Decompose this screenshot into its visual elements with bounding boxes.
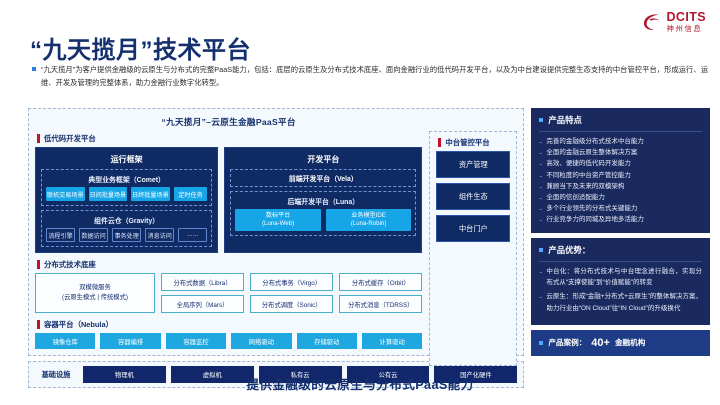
product-case-label: 产品案例： [548, 337, 586, 348]
product-features-title: 产品特点 [548, 114, 582, 126]
product-advantages-panel: 产品优势： 中台化：将分布式技术与中台理念进行融合，实现分布式从“支撑使能”到“… [531, 238, 710, 324]
feature-item: 多个行业领先的分布式关键能力 [539, 203, 702, 214]
dual-mode-line2: (云原生模式 | 传统模式) [62, 293, 128, 303]
backend-dev-item-line1: 数标平台 [266, 212, 290, 219]
product-case-number: 40+ [591, 337, 610, 349]
container-item[interactable]: 容器监控 [166, 333, 226, 349]
section-header-lowcode: 低代码开发平台 [37, 133, 422, 144]
comet-item[interactable]: 日终批量场景 [131, 187, 170, 201]
mgmt-platform-column: 中台管控平台 资产管理 组件生态 中台门户 [429, 114, 517, 349]
product-advantages-title-row: 产品优势： [539, 244, 702, 262]
feature-item: 高效、便捷的低代码开发能力 [539, 158, 702, 169]
backend-dev-item-line2: (Luna-Web) [262, 220, 294, 227]
base-column: 分布式缓存（Orbit） 分布式消息（TDRSS） [339, 273, 422, 313]
gravity-item[interactable]: 流程引擎 [46, 228, 75, 242]
comet-item[interactable]: 联机交易场景 [46, 187, 85, 201]
mgmt-item[interactable]: 中台门户 [436, 215, 510, 242]
container-platform-section: 容器平台（Nebula） 镜像仓库 容器编排 容器监控 网络驱动 存储驱动 计算… [35, 319, 422, 349]
content-area: “九天揽月”–云原生金融PaaS平台 低代码开发平台 运行框架 [28, 108, 710, 388]
feature-item: 行业竞争力的同城及异地多活能力 [539, 214, 702, 225]
backend-dev-item[interactable]: 业务模型IDE (Luna-Robin) [326, 209, 412, 231]
product-features-title-row: 产品特点 [539, 114, 702, 132]
backend-dev-item-line2: (Luna-Robin) [351, 220, 387, 227]
feature-item: 全面的金融云原生整体解决方案 [539, 147, 702, 158]
base-cell[interactable]: 分布式调度（Sonic） [250, 295, 333, 313]
square-bullet-icon [539, 341, 543, 345]
gravity-item[interactable]: 事务处理 [112, 228, 141, 242]
gravity-item[interactable]: 消息访问 [145, 228, 174, 242]
dcits-swoosh-icon [641, 11, 663, 33]
architecture-diagram: “九天揽月”–云原生金融PaaS平台 低代码开发平台 运行框架 [28, 108, 524, 388]
section-bar-icon [37, 134, 40, 143]
mgmt-platform-panel: 中台管控平台 资产管理 组件生态 中台门户 [429, 131, 517, 366]
container-item[interactable]: 计算驱动 [362, 333, 422, 349]
container-item[interactable]: 网络驱动 [231, 333, 291, 349]
comet-group: 典型业务框架（Comet） 联机交易场景 日间批量场景 日终批量场景 定时任务 [41, 169, 212, 206]
mgmt-item[interactable]: 组件生态 [436, 183, 510, 210]
square-bullet-icon [539, 248, 543, 252]
gravity-group: 组件云仓（Gravity） 流程引擎 数据访问 事务处理 消息访问 …… [41, 210, 212, 247]
dev-platform-block: 开发平台 前端开发平台（Vela） 后端开发平台（Luna） 数标平台 (Lun… [224, 147, 422, 253]
advantage-item: 云原生：形成“金融+分布式+云原生”的整体解决方案，助力行业由“ON Cloud… [539, 291, 702, 313]
base-cell[interactable]: 分布式事务（Virgo） [250, 273, 333, 291]
mgmt-item[interactable]: 资产管理 [436, 151, 510, 178]
comet-item[interactable]: 定时任务 [174, 187, 208, 201]
base-column: 分布式数据（Libra） 全局序列（Mars） [161, 273, 244, 313]
comet-label: 典型业务框架（Comet） [46, 173, 207, 187]
backend-dev-item-line1: 业务模型IDE [351, 212, 386, 219]
diagram-title: “九天揽月”–云原生金融PaaS平台 [35, 114, 422, 133]
platform-panel: “九天揽月”–云原生金融PaaS平台 低代码开发平台 运行框架 [28, 108, 524, 356]
feature-item: 不同粒度的中台资产管控能力 [539, 170, 702, 181]
gravity-item[interactable]: 数据访问 [79, 228, 108, 242]
section-header-container: 容器平台（Nebula） [37, 319, 422, 330]
runtime-title: 运行框架 [41, 152, 212, 169]
section-title-base: 分布式技术底座 [44, 259, 96, 270]
intro-paragraph: “九天揽月”为客户提供金融级的云原生与分布式的完整PaaS能力，包括：底层的云原… [32, 63, 708, 90]
container-item[interactable]: 存储驱动 [297, 333, 357, 349]
section-header-base: 分布式技术底座 [37, 259, 422, 270]
distributed-base-section: 分布式技术底座 双模微服务 (云原生模式 | 传统模式) 分布式数据（Libra… [35, 259, 422, 313]
product-case-panel: 产品案例： 40+ 金融机构 [531, 330, 710, 356]
page-title: “九天揽月”技术平台 [30, 30, 251, 65]
section-title-lowcode: 低代码开发平台 [44, 133, 96, 144]
section-title-mgmt: 中台管控平台 [445, 137, 489, 148]
feature-item: 兼顾当下及未来的双模架构 [539, 181, 702, 192]
container-item[interactable]: 容器编排 [100, 333, 160, 349]
feature-item: 完善的金融级分布式技术中台能力 [539, 136, 702, 147]
container-item[interactable]: 镜像仓库 [35, 333, 95, 349]
sidebar: 产品特点 完善的金融级分布式技术中台能力 全面的金融云原生整体解决方案 高效、便… [531, 108, 710, 356]
product-advantages-title: 产品优势： [548, 244, 590, 256]
base-cell[interactable]: 分布式数据（Libra） [161, 273, 244, 291]
square-bullet-icon [32, 67, 36, 71]
backend-dev-item[interactable]: 数标平台 (Luna-Web) [235, 209, 321, 231]
slide-root: DCITS 神州信息 “九天揽月”技术平台 “九天揽月”为客户提供金融级的云原生… [0, 0, 720, 405]
base-column: 分布式事务（Virgo） 分布式调度（Sonic） [250, 273, 333, 313]
logo-sub-text: 神州信息 [667, 25, 707, 32]
footer-caption: 提供金融级的云原生与分布式PaaS能力 [0, 374, 720, 393]
frontend-dev-platform[interactable]: 前端开发平台（Vela） [230, 169, 416, 187]
section-bar-icon [438, 138, 441, 147]
section-bar-icon [37, 260, 40, 269]
base-cell[interactable]: 分布式缓存（Orbit） [339, 273, 422, 291]
advantage-item: 中台化：将分布式技术与中台理念进行融合，实现分布式从“支撑使能”到“价值赋能”的… [539, 266, 702, 288]
section-title-container: 容器平台（Nebula） [44, 319, 113, 330]
base-cell[interactable]: 分布式消息（TDRSS） [339, 295, 422, 313]
square-bullet-icon [539, 118, 543, 122]
product-advantages-list: 中台化：将分布式技术与中台理念进行融合，实现分布式从“支撑使能”到“价值赋能”的… [539, 266, 702, 313]
gravity-label: 组件云仓（Gravity） [46, 214, 207, 228]
logo-main-text: DCITS [667, 11, 707, 24]
product-case-unit: 金融机构 [615, 337, 645, 348]
section-header-mgmt: 中台管控平台 [438, 137, 510, 148]
dual-mode-line1: 双模微服务 [79, 283, 110, 293]
backend-dev-label: 后端开发平台（Luna） [235, 195, 411, 209]
backend-dev-group: 后端开发平台（Luna） 数标平台 (Luna-Web) 业务模型IDE [230, 191, 416, 236]
product-features-list: 完善的金融级分布式技术中台能力 全面的金融云原生整体解决方案 高效、便捷的低代码… [539, 136, 702, 225]
gravity-item[interactable]: …… [178, 228, 207, 242]
dev-platform-title: 开发平台 [230, 152, 416, 169]
feature-item: 全面的信创适配能力 [539, 192, 702, 203]
dual-mode-microservice[interactable]: 双模微服务 (云原生模式 | 传统模式) [35, 273, 155, 313]
comet-item[interactable]: 日间批量场景 [89, 187, 128, 201]
product-features-panel: 产品特点 完善的金融级分布式技术中台能力 全面的金融云原生整体解决方案 高效、便… [531, 108, 710, 233]
runtime-framework-block: 运行框架 典型业务框架（Comet） 联机交易场景 日间批量场景 日终批量场景 … [35, 147, 218, 253]
company-logo: DCITS 神州信息 [641, 11, 707, 33]
base-cell[interactable]: 全局序列（Mars） [161, 295, 244, 313]
intro-text: “九天揽月”为客户提供金融级的云原生与分布式的完整PaaS能力，包括：底层的云原… [41, 63, 708, 90]
section-bar-icon [37, 320, 40, 329]
